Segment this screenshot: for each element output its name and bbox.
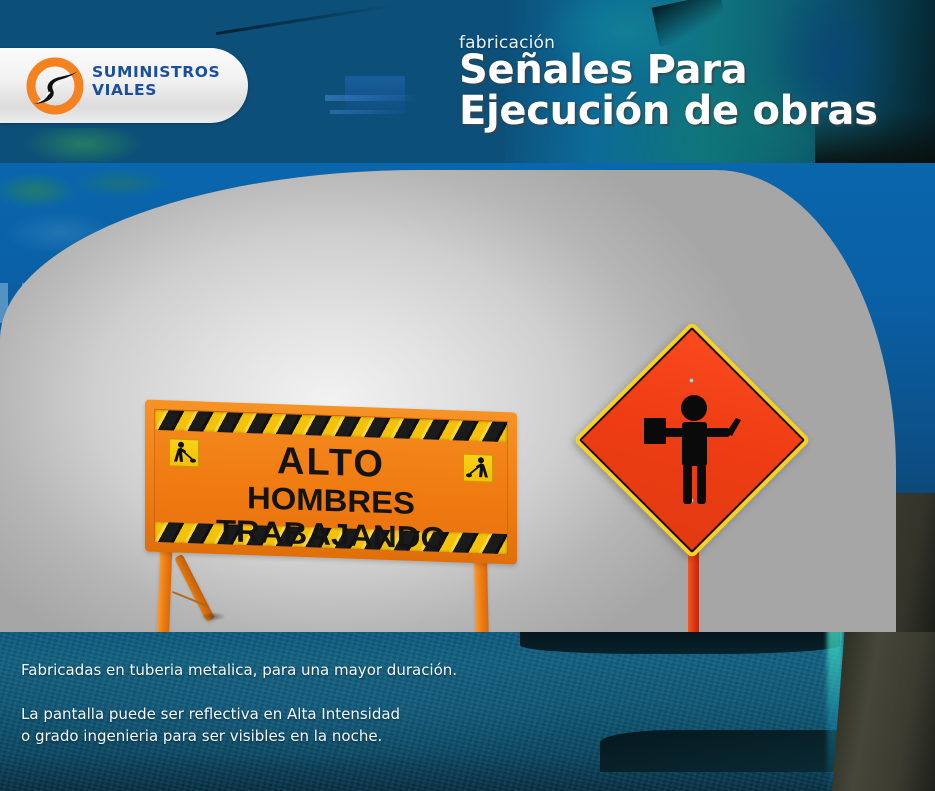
flagger-worker-icon — [622, 370, 762, 510]
brand-logo-panel[interactable]: SUMINISTROS VIALES — [0, 48, 248, 123]
barricade-shadow — [200, 612, 226, 621]
header-streak-decoration — [330, 110, 410, 114]
header-streak-decoration — [325, 95, 420, 101]
header-title-line2: Ejecución de obras — [459, 91, 878, 132]
footer-spacer — [21, 681, 457, 703]
brand-name: SUMINISTROS VIALES — [92, 64, 220, 99]
footer-description: Fabricadas en tuberia metalica, para una… — [21, 659, 457, 747]
footer-line1: Fabricadas en tuberia metalica, para una… — [21, 659, 457, 681]
brand-name-line2: VIALES — [92, 82, 220, 100]
barricade-subline: HOMBRES TRABAJANDO — [147, 478, 516, 559]
barricade-text-area: ALTO HOMBRES TRABAJANDO — [155, 432, 507, 532]
barricade-sign[interactable]: ALTO HOMBRES TRABAJANDO — [145, 406, 525, 632]
flagger-diamond-sign[interactable] — [608, 356, 788, 632]
footer-dark-shape — [600, 730, 850, 772]
brand-name-line1: SUMINISTROS — [92, 64, 220, 82]
barricade-panel: ALTO HOMBRES TRABAJANDO — [145, 400, 517, 565]
header-title-line1: Señales Para — [459, 50, 878, 91]
footer-dark-shape — [520, 632, 840, 654]
barricade-face: ALTO HOMBRES TRABAJANDO — [154, 409, 508, 555]
footer-line2: La pantalla puede ser reflectiva en Alta… — [21, 703, 457, 725]
footer-band: Fabricadas en tuberia metalica, para una… — [0, 632, 935, 791]
barricade-leg-left — [154, 546, 173, 632]
product-showcase-panel: ALTO HOMBRES TRABAJANDO — [0, 170, 896, 632]
header-streak-decoration — [216, 4, 394, 35]
header-foliage-decoration — [18, 128, 148, 163]
poster-root: SUMINISTROS VIALES fabricación Señales P… — [0, 0, 935, 791]
road-swoosh-icon — [26, 57, 84, 115]
barricade-leg-right — [474, 558, 491, 632]
header-title: Señales Para Ejecución de obras — [459, 50, 878, 132]
header-banner: SUMINISTROS VIALES fabricación Señales P… — [0, 0, 935, 163]
footer-line3: o grado ingenieria para ser visibles en … — [21, 725, 457, 747]
